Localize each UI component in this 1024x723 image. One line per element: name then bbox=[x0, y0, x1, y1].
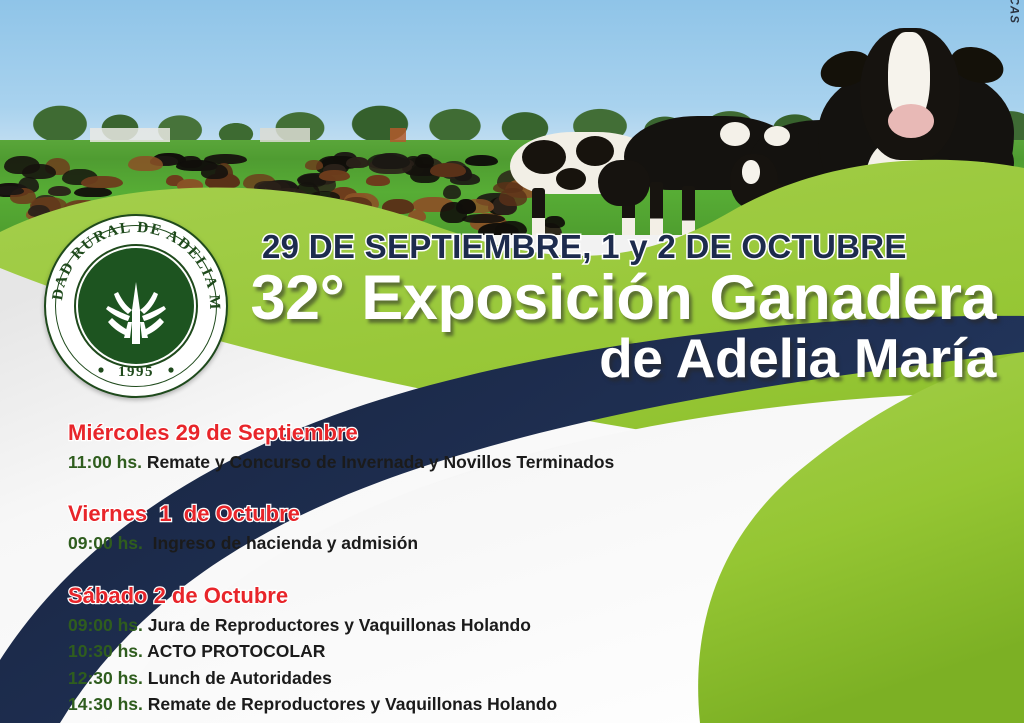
event-description: ACTO PROTOCOLAR bbox=[143, 641, 325, 661]
event-time: 11:00 hs. bbox=[68, 452, 142, 472]
schedule-event: 09:00 hs. Jura de Reproductores y Vaquil… bbox=[68, 613, 688, 638]
photo-credit: EDISON IDEAS FRESCAS bbox=[1008, 0, 1020, 24]
title-line-2: de Adelia María bbox=[166, 332, 996, 385]
event-time: 09:00 hs. bbox=[68, 615, 143, 635]
schedule-event: 10:30 hs. ACTO PROTOCOLAR bbox=[68, 639, 688, 664]
event-time: 12:30 hs. bbox=[68, 668, 143, 688]
event-description: Ingreso de hacienda y admisión bbox=[143, 533, 418, 553]
schedule-event: 11:00 hs. Remate y Concurso de Invernada… bbox=[68, 450, 688, 475]
event-time: 14:30 hs. bbox=[68, 694, 143, 714]
poster: 29 DE SEPTIEMBRE, 1 y 2 DE OCTUBRE 32° E… bbox=[0, 0, 1024, 723]
schedule-day-group: Sábado 2 de Octubre09:00 hs. Jura de Rep… bbox=[68, 583, 688, 718]
event-description: Remate de Reproductores y Vaquillonas Ho… bbox=[143, 694, 557, 714]
event-description: Jura de Reproductores y Vaquillonas Hola… bbox=[143, 615, 531, 635]
sociedad-rural-logo: SOCIEDAD RURAL DE ADELIA MARIA 1995 bbox=[44, 214, 228, 398]
schedule-event: 14:30 hs. Remate de Reproductores y Vaqu… bbox=[68, 692, 688, 717]
schedule-event: 09:00 hs. Ingreso de hacienda y admisión bbox=[68, 531, 688, 556]
title-line-1: 32° Exposición Ganadera bbox=[166, 268, 996, 328]
event-time: 10:30 hs. bbox=[68, 641, 143, 661]
date-banner: 29 DE SEPTIEMBRE, 1 y 2 DE OCTUBRE bbox=[262, 228, 1002, 266]
schedule-list: Miércoles 29 de Septiembre11:00 hs. Rema… bbox=[68, 420, 688, 718]
event-time: 09:00 hs. bbox=[68, 533, 143, 553]
event-description: Lunch de Autoridades bbox=[143, 668, 332, 688]
schedule-day-heading: Viernes 1 de Octubre bbox=[68, 501, 688, 527]
page-title: 32° Exposición Ganadera de Adelia María bbox=[166, 268, 996, 385]
schedule-event: 12:30 hs. Lunch de Autoridades bbox=[68, 666, 688, 691]
schedule-day-heading: Sábado 2 de Octubre bbox=[68, 583, 688, 609]
logo-year: 1995 bbox=[44, 364, 228, 381]
svg-text:SOCIEDAD RURAL DE ADELIA MARIA: SOCIEDAD RURAL DE ADELIA MARIA bbox=[44, 214, 223, 311]
schedule-day-group: Viernes 1 de Octubre09:00 hs. Ingreso de… bbox=[68, 501, 688, 556]
schedule-day-group: Miércoles 29 de Septiembre11:00 hs. Rema… bbox=[68, 420, 688, 475]
event-description: Remate y Concurso de Invernada y Novillo… bbox=[142, 452, 614, 472]
schedule-day-heading: Miércoles 29 de Septiembre bbox=[68, 420, 688, 446]
